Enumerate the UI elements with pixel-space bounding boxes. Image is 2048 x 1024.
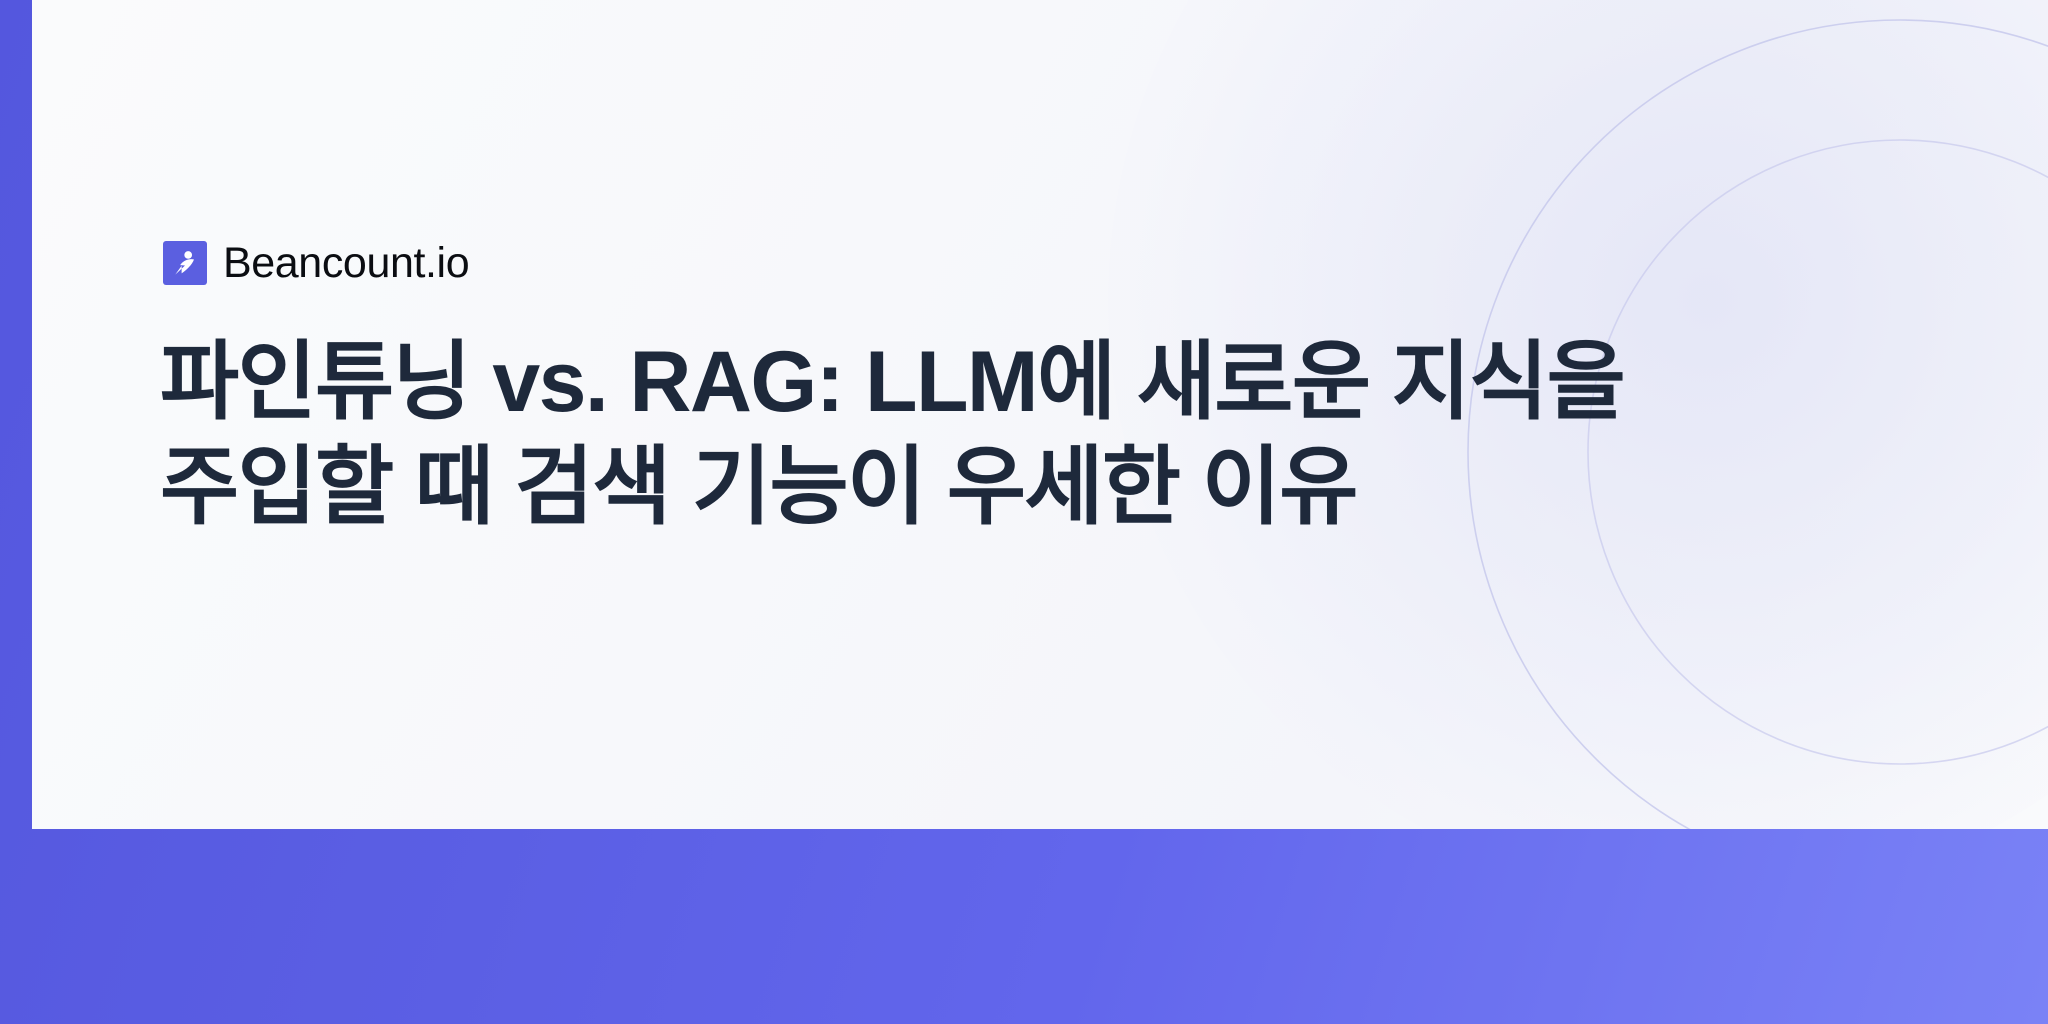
brand-lockup[interactable]: Beancount.io — [163, 241, 469, 285]
social-card-canvas: Beancount.io 파인튜닝 vs. RAG: LLM에 새로운 지식을 … — [0, 0, 2048, 1024]
page-title-line-2: 주입할 때 검색 기능이 우세한 이유 — [160, 435, 1560, 540]
content-card: Beancount.io 파인튜닝 vs. RAG: LLM에 새로운 지식을 … — [32, 0, 2048, 829]
page-title-line-1: 파인튜닝 vs. RAG: LLM에 새로운 지식을 — [160, 330, 1560, 435]
beancount-logo-icon — [163, 241, 207, 285]
brand-name-label: Beancount.io — [223, 242, 469, 285]
page-title: 파인튜닝 vs. RAG: LLM에 새로운 지식을 주입할 때 검색 기능이 … — [160, 330, 1560, 540]
